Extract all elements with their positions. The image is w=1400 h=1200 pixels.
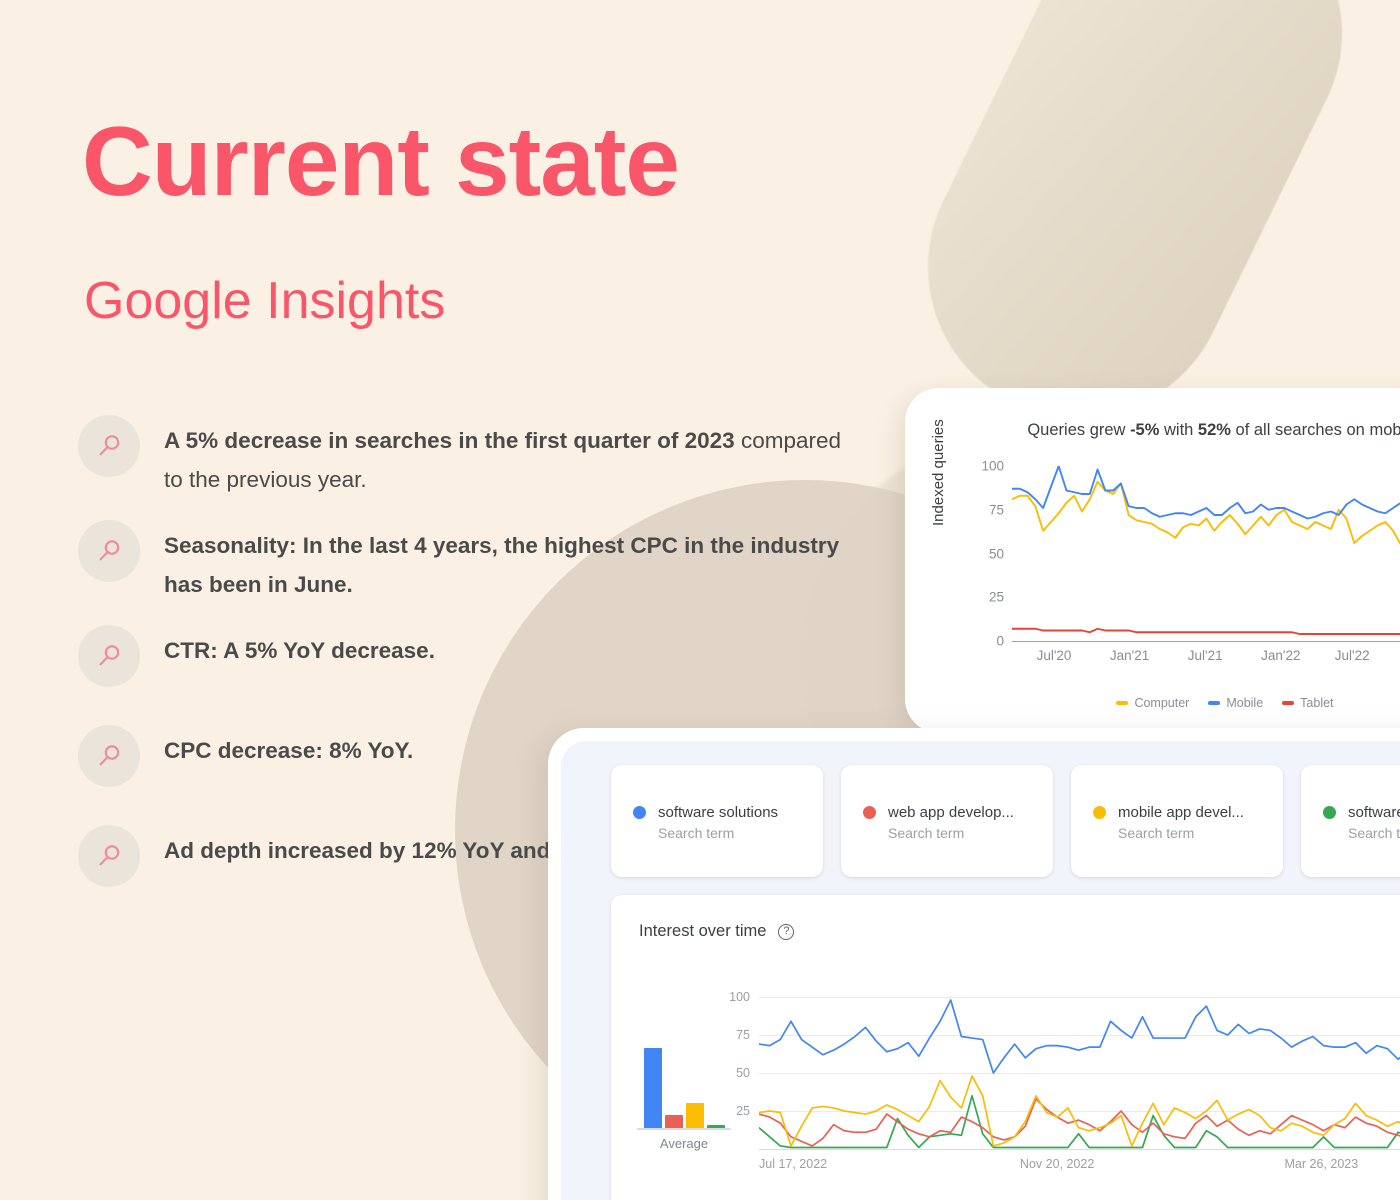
chart-queries-axis: [1012, 641, 1400, 642]
interest-ytick: 25: [736, 1104, 750, 1118]
panel-title: Interest over time: [639, 922, 766, 941]
insight-text-bold: CPC decrease: 8% YoY.: [164, 738, 413, 763]
average-bar: [644, 1048, 662, 1129]
search-icon: [78, 415, 140, 477]
chart-title-growth: -5%: [1130, 421, 1159, 439]
search-term-card-list: software solutionsSearch termweb app dev…: [611, 765, 1400, 877]
insight-item: Seasonality: In the last 4 years, the hi…: [78, 520, 868, 605]
page-title: Current state: [82, 112, 679, 210]
chart-queries-legend: ComputerMobileTablet: [916, 696, 1400, 710]
series-color-dot: [1093, 806, 1106, 819]
search-icon: [78, 625, 140, 687]
chart-queries-title: Queries grew -5% with 52% of all searche…: [916, 421, 1400, 440]
tablet-device-bottom: software solutionsSearch termweb app dev…: [548, 728, 1400, 1200]
search-term-subtitle: Search term: [1118, 825, 1283, 841]
search-term-name: mobile app devel...: [1118, 804, 1244, 821]
chart-title-share: 52%: [1198, 421, 1231, 439]
insight-text: A 5% decrease in searches in the first q…: [164, 415, 854, 500]
legend-item[interactable]: Mobile: [1208, 696, 1263, 710]
chart-queries-xtick: Jan'21: [1110, 648, 1149, 663]
search-term-row: mobile app devel...: [1093, 804, 1283, 821]
help-icon[interactable]: ?: [778, 924, 794, 940]
page-subtitle: Google Insights: [84, 275, 445, 327]
interest-ytick: 50: [736, 1066, 750, 1080]
chart-queries-ytick: 25: [989, 590, 1004, 605]
chart-queries-ytick: 0: [996, 634, 1004, 649]
legend-label: Tablet: [1300, 696, 1333, 710]
legend-swatch: [1116, 701, 1128, 704]
interest-xtick: Nov 20, 2022: [1020, 1157, 1094, 1171]
search-term-row: web app develop...: [863, 804, 1053, 821]
search-term-name: web app develop...: [888, 804, 1014, 821]
search-icon: [78, 825, 140, 887]
insight-text: Seasonality: In the last 4 years, the hi…: [164, 520, 854, 605]
search-term-name: software solutions: [658, 804, 778, 821]
chart-title-mid: with: [1159, 421, 1198, 439]
interest-ytick: 100: [729, 990, 750, 1004]
search-term-name: software develop...: [1348, 804, 1400, 821]
series-color-dot: [633, 806, 646, 819]
insight-text: CTR: A 5% YoY decrease.: [164, 625, 435, 670]
search-term-subtitle: Search term: [888, 825, 1053, 841]
search-icon: [78, 725, 140, 787]
interest-over-time-header: Interest over time ?: [611, 895, 1400, 942]
chart-queries-ytick: 50: [989, 546, 1004, 561]
interest-over-time-panel: Interest over time ?: [611, 895, 1400, 1200]
average-label: Average: [629, 1136, 739, 1151]
legend-label: Computer: [1134, 696, 1189, 710]
search-term-subtitle: Search term: [658, 825, 823, 841]
legend-swatch: [1282, 701, 1294, 704]
chart-queries-xtick: Jul'22: [1335, 648, 1370, 663]
chart-queries-lines: [1012, 466, 1400, 641]
chart-queries-xtick: Jan'22: [1261, 648, 1300, 663]
tablet-device-top: Queries grew -5% with 52% of all searche…: [905, 388, 1400, 733]
search-term-card[interactable]: software develop...Search term: [1301, 765, 1400, 877]
average-bars: [629, 1011, 739, 1129]
chart-title-suffix: of all searches on mobile.: [1231, 421, 1400, 439]
legend-item[interactable]: Computer: [1116, 696, 1189, 710]
search-term-row: software develop...: [1323, 804, 1400, 821]
chart-queries-xtick: Jul'20: [1037, 648, 1072, 663]
interest-xtick: Mar 26, 2023: [1285, 1157, 1359, 1171]
chart-queries-ytick: 100: [981, 459, 1004, 474]
interest-lines-plot: 255075100Jul 17, 2022Nov 20, 2022Mar 26,…: [759, 997, 1400, 1149]
insight-text-bold: CTR: A 5% YoY decrease.: [164, 638, 435, 663]
interest-xtick: Jul 17, 2022: [759, 1157, 827, 1171]
search-term-card[interactable]: mobile app devel...Search term: [1071, 765, 1283, 877]
search-term-card[interactable]: software solutionsSearch term: [611, 765, 823, 877]
average-baseline: [637, 1128, 731, 1130]
series-color-dot: [863, 806, 876, 819]
average-bar-chart: Average: [629, 991, 739, 1151]
average-bar: [686, 1103, 704, 1129]
chart-queries-plot: 0255075100Jul'20Jan'21Jul'21Jan'22Jul'22…: [1012, 466, 1400, 641]
insight-item: CTR: A 5% YoY decrease.: [78, 625, 868, 687]
insight-item: A 5% decrease in searches in the first q…: [78, 415, 868, 500]
search-term-subtitle: Search term: [1348, 825, 1400, 841]
chart-queries-area: Indexed queries 0255075100Jul'20Jan'21Ju…: [916, 454, 1400, 704]
legend-swatch: [1208, 701, 1220, 704]
insight-text: CPC decrease: 8% YoY.: [164, 725, 413, 770]
search-icon: [78, 520, 140, 582]
tablet-bottom-screen: software solutionsSearch termweb app dev…: [561, 741, 1400, 1200]
slide-canvas: Current state Google Insights A 5% decre…: [0, 0, 1400, 1200]
average-bar: [665, 1115, 683, 1129]
interest-over-time-chart: Average 255075100Jul 17, 2022Nov 20, 202…: [611, 991, 1400, 1200]
legend-label: Mobile: [1226, 696, 1263, 710]
search-term-card[interactable]: web app develop...Search term: [841, 765, 1053, 877]
series-color-dot: [1323, 806, 1336, 819]
insight-text-bold: Seasonality: In the last 4 years, the hi…: [164, 533, 839, 597]
interest-axis: [759, 1149, 1400, 1150]
chart-queries-ytick: 75: [989, 502, 1004, 517]
insight-text-bold: A 5% decrease in searches in the first q…: [164, 428, 735, 453]
interest-lines: [759, 997, 1400, 1149]
chart-queries-xtick: Jul'21: [1188, 648, 1223, 663]
chart-title-prefix: Queries grew: [1027, 421, 1130, 439]
legend-item[interactable]: Tablet: [1282, 696, 1333, 710]
search-term-row: software solutions: [633, 804, 823, 821]
tablet-top-screen: Queries grew -5% with 52% of all searche…: [916, 399, 1400, 722]
interest-ytick: 75: [736, 1028, 750, 1042]
chart-queries-ylabel: Indexed queries: [930, 419, 947, 526]
